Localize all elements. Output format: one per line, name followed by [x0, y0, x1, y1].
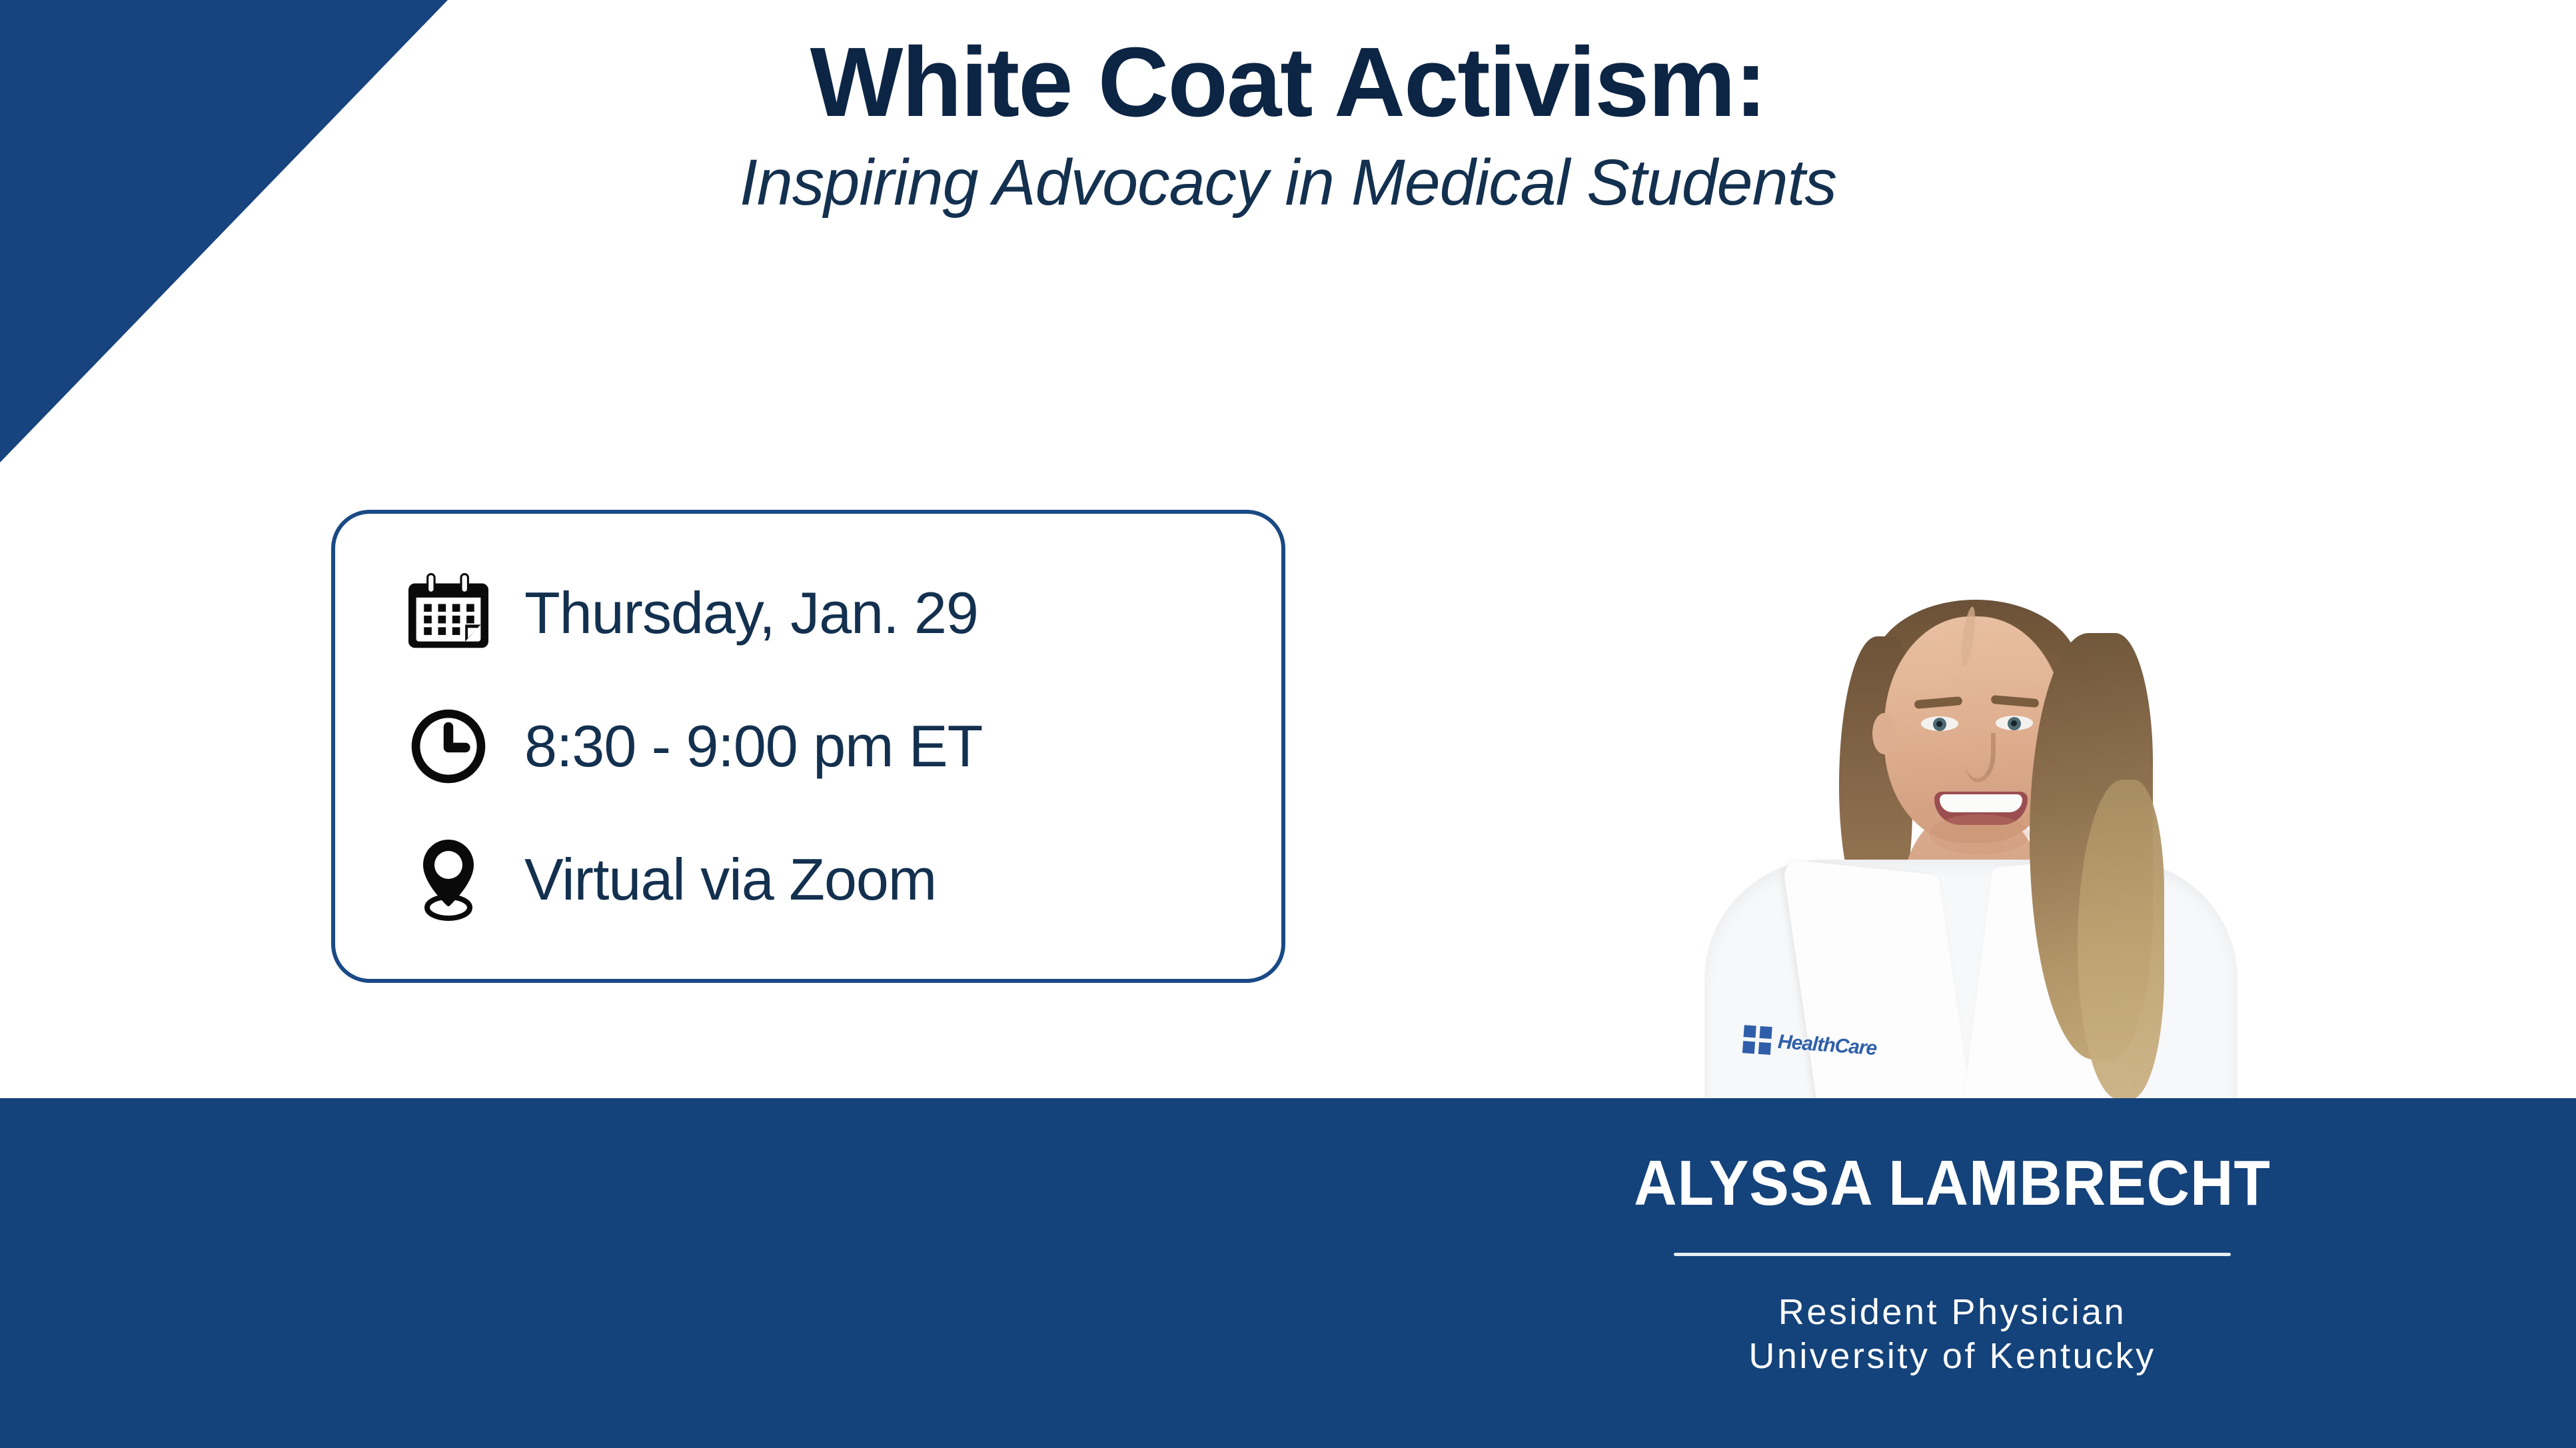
detail-time-text: 8:30 - 9:00 pm ET	[495, 717, 982, 776]
speaker-organization: University of Kentucky	[1459, 1335, 2445, 1379]
event-details-card: Thursday, Jan. 29 8:30 - 9:00 pm ET Virt…	[331, 510, 1285, 983]
detail-location-text: Virtual via Zoom	[495, 850, 936, 909]
photo-eye-right	[1996, 716, 2033, 730]
page-subtitle: Inspiring Advocacy in Medical Students	[0, 147, 2576, 219]
uk-healthcare-mark-icon	[1742, 1025, 1772, 1056]
photo-eye-left	[1921, 716, 1958, 731]
photo-hair-right-strand	[2078, 780, 2164, 1098]
clock-icon	[402, 708, 495, 785]
detail-row-date: Thursday, Jan. 29	[402, 546, 1281, 680]
calendar-icon	[402, 573, 495, 653]
location-pin-icon	[402, 838, 495, 921]
speaker-name: ALYSSA LAMBRECHT	[1494, 1151, 2411, 1215]
coat-badge-text: HealthCare	[1777, 1031, 1877, 1060]
speaker-photo-image: HealthCare	[1664, 513, 2271, 1098]
detail-row-location: Virtual via Zoom	[402, 813, 1281, 946]
detail-date-text: Thursday, Jan. 29	[495, 584, 978, 642]
speaker-info: ALYSSA LAMBRECHT Resident Physician Univ…	[1459, 1151, 2445, 1379]
event-flyer: White Coat Activism: Inspiring Advocacy …	[0, 0, 2576, 1448]
photo-chin	[1930, 814, 2030, 854]
photo-ear-left	[1872, 713, 1896, 754]
speaker-role: Resident Physician	[1459, 1291, 2445, 1335]
detail-row-time: 8:30 - 9:00 pm ET	[402, 680, 1281, 813]
title-block: White Coat Activism: Inspiring Advocacy …	[0, 31, 2576, 219]
speaker-photo: HealthCare	[1664, 513, 2271, 1098]
page-title: White Coat Activism:	[0, 31, 2576, 135]
speaker-divider	[1674, 1253, 2231, 1256]
